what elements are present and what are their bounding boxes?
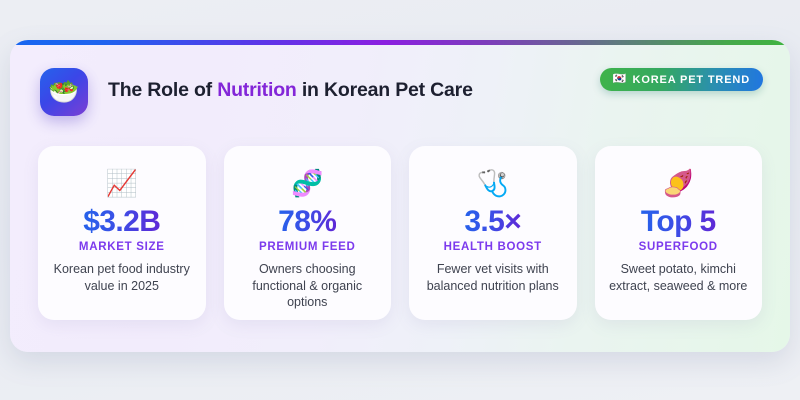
badge-label: KOREA PET TREND xyxy=(633,74,750,86)
page-title-suffix: in Korean Pet Care xyxy=(297,79,473,101)
panel-header: 🥗 The Role of Nutrition in Korean Pet Ca… xyxy=(32,68,768,122)
chart-increasing-icon: 📈 xyxy=(106,168,138,198)
stat-label: MARKET SIZE xyxy=(79,241,165,253)
stat-value: 3.5× xyxy=(464,206,521,238)
infographic-panel: 🥗 The Role of Nutrition in Korean Pet Ca… xyxy=(10,40,790,352)
stat-value: Top 5 xyxy=(641,206,716,238)
page-title-highlight: Nutrition xyxy=(217,79,296,101)
korea-pet-trend-badge[interactable]: 🇰🇷 KOREA PET TREND xyxy=(600,68,763,91)
stat-description: Sweet potato, kimchi extract, seaweed & … xyxy=(595,261,763,294)
stat-card-premium-feed: 🧬 78% PREMIUM FEED Owners choosing funct… xyxy=(224,146,392,320)
stat-card-superfood: 🍠 Top 5 SUPERFOOD Sweet potato, kimchi e… xyxy=(595,146,763,320)
stethoscope-icon: 🩺 xyxy=(477,168,509,198)
gradient-top-bar xyxy=(10,40,790,45)
stat-card-list: 📈 $3.2B MARKET SIZE Korean pet food indu… xyxy=(38,146,762,320)
stat-card-health-boost: 🩺 3.5× HEALTH BOOST Fewer vet visits wit… xyxy=(409,146,577,320)
stat-value: $3.2B xyxy=(83,206,160,238)
stat-description: Korean pet food industry value in 2025 xyxy=(38,261,206,294)
page-title-prefix: The Role of xyxy=(108,79,217,101)
stat-description: Owners choosing functional & organic opt… xyxy=(224,261,392,311)
dna-icon: 🧬 xyxy=(291,168,323,198)
sweet-potato-icon: 🍠 xyxy=(662,168,694,198)
salad-icon-tile: 🥗 xyxy=(40,68,88,116)
stat-value: 78% xyxy=(278,206,336,238)
stat-label: SUPERFOOD xyxy=(639,241,718,253)
page-title: The Role of Nutrition in Korean Pet Care xyxy=(108,79,473,102)
korea-flag-icon: 🇰🇷 xyxy=(613,74,627,85)
stat-label: HEALTH BOOST xyxy=(444,241,542,253)
stat-card-market-size: 📈 $3.2B MARKET SIZE Korean pet food indu… xyxy=(38,146,206,320)
salad-emoji-icon: 🥗 xyxy=(48,80,79,105)
stat-label: PREMIUM FEED xyxy=(259,241,356,253)
stat-description: Fewer vet visits with balanced nutrition… xyxy=(409,261,577,294)
